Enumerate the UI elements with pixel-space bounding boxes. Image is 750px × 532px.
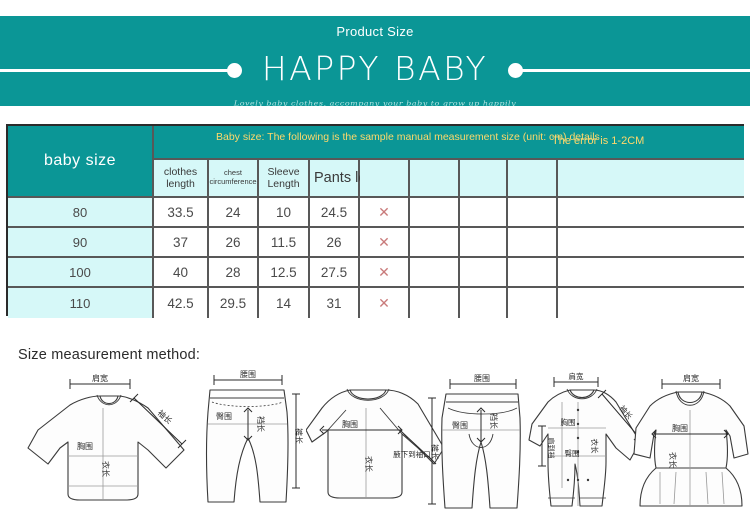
table-header-baby-size: baby size: [8, 126, 154, 198]
product-size-page: Product Size HAPPY BABY Lovely baby clot…: [0, 0, 750, 532]
size-table: baby size Baby size: The following is th…: [6, 124, 744, 316]
label-hip: 臀围: [565, 449, 580, 458]
table-row-size-cell: 100: [8, 258, 154, 288]
table-cell-col6: [410, 258, 460, 288]
table-col-8: [508, 160, 558, 198]
table-cell-mark: ✕: [360, 228, 410, 258]
table-cell-col7: [460, 228, 508, 258]
label-crotch: 裆长: [256, 416, 266, 432]
table-cell-col8: [508, 288, 558, 318]
label-hip: 臀围: [216, 412, 232, 421]
page-banner: Product Size HAPPY BABY Lovely baby clot…: [0, 16, 750, 106]
measurement-method-title: Size measurement method:: [18, 347, 200, 363]
table-header-note-band: Baby size: The following is the sample m…: [154, 126, 744, 160]
table-col-9: [558, 160, 744, 198]
table-col-7: [460, 160, 508, 198]
table-cell-chest-circumference: 29.5: [209, 288, 259, 318]
table-col-sleeve-length: Sleeve Length: [259, 160, 310, 198]
table-cell-col8: [508, 198, 558, 228]
shorts-pants-icon: 腰围 裆长 臀围 裤长: [422, 368, 540, 516]
label-shoulder-to-crotch: 肩到裆: [547, 438, 556, 459]
table-cell-mark: ✕: [360, 258, 410, 288]
table-cell-col9: [558, 198, 744, 228]
table-cell-col7: [460, 258, 508, 288]
label-shoulder-width: 肩宽: [683, 373, 699, 383]
table-cell-chest-circumference: 24: [209, 198, 259, 228]
label-length: 衣长: [590, 439, 600, 454]
table-cell-sleeve-length: 11.5: [259, 228, 310, 258]
romper-icon: 肩宽 袖长 胸围 衣长 肩到裆 臀围: [528, 368, 646, 516]
table-cell-pants-length: 27.5: [310, 258, 360, 288]
table-cell-chest-circumference: 26: [209, 228, 259, 258]
label-length: 衣长: [668, 452, 678, 468]
label-crotch: 裆长: [489, 413, 499, 429]
table-row-size-cell: 110: [8, 288, 154, 318]
label-chest: 胸围: [77, 441, 93, 451]
table-row-size-cell: 80: [8, 198, 154, 228]
table-cell-sleeve-length: 12.5: [259, 258, 310, 288]
table-cell-col8: [508, 228, 558, 258]
measurement-diagrams: 肩宽 袖长 胸围 衣长: [10, 368, 745, 518]
table-col-5: [360, 160, 410, 198]
label-waist: 腰围: [474, 374, 490, 383]
table-cell-pants-length: 24.5: [310, 198, 360, 228]
diagram-long-sleeve-top: 肩宽 袖长 胸围 衣长: [22, 368, 197, 518]
banner-title: HAPPY BABY: [0, 49, 750, 88]
long-pants-icon: 腰围 裤长 臀围 裆长: [188, 368, 318, 513]
label-chest: 胸围: [672, 423, 688, 433]
long-sleeve-top-icon: 肩宽 袖长 胸围 衣长: [22, 368, 197, 513]
banner-script-text: Lovely baby clothes, accompany your baby…: [0, 100, 750, 106]
table-cell-col8: [508, 258, 558, 288]
table-cell-col9: [558, 228, 744, 258]
table-cell-clothes-length: 37: [154, 228, 209, 258]
label-chest: 胸围: [561, 417, 576, 427]
table-col-6: [410, 160, 460, 198]
label-shoulder-width: 肩宽: [569, 371, 584, 381]
table-col-clothes-length: clothes length: [154, 160, 209, 198]
label-hip: 臀围: [452, 421, 468, 430]
diagram-romper: 肩宽 袖长 胸围 衣长 肩到裆 臀围: [528, 368, 646, 521]
label-chest: 胸围: [342, 419, 358, 429]
table-note-error: The error is 1-2CM: [552, 135, 644, 147]
label-length: 衣长: [101, 461, 111, 477]
table-cell-col9: [558, 258, 744, 288]
table-cell-mark: ✕: [360, 288, 410, 318]
diagram-dress: 肩宽 胸围 衣长: [630, 368, 750, 521]
label-length: 衣长: [364, 456, 374, 472]
dress-icon: 肩宽 胸围 衣长: [630, 368, 750, 516]
table-cell-sleeve-length: 10: [259, 198, 310, 228]
banner-subtitle: Product Size: [0, 24, 750, 39]
table-cell-col7: [460, 198, 508, 228]
table-cell-sleeve-length: 14: [259, 288, 310, 318]
table-cell-col6: [410, 228, 460, 258]
table-cell-col6: [410, 198, 460, 228]
diagram-shorts-pants: 腰围 裆长 臀围 裤长: [422, 368, 540, 521]
label-pants-length: 裤长: [430, 444, 440, 460]
table-cell-col6: [410, 288, 460, 318]
table-cell-pants-length: 26: [310, 228, 360, 258]
label-pants-length: 裤长: [294, 428, 304, 444]
label-shoulder-width: 肩宽: [92, 373, 108, 383]
table-cell-mark: ✕: [360, 198, 410, 228]
table-cell-clothes-length: 33.5: [154, 198, 209, 228]
diagram-long-pants: 腰围 裤长 臀围 裆长: [188, 368, 318, 518]
table-cell-pants-length: 31: [310, 288, 360, 318]
table-col-pants-length: Pants length/two-way gear: [310, 160, 360, 198]
table-cell-col7: [460, 288, 508, 318]
table-cell-clothes-length: 42.5: [154, 288, 209, 318]
table-cell-chest-circumference: 28: [209, 258, 259, 288]
table-cell-col9: [558, 288, 744, 318]
table-row-size-cell: 90: [8, 228, 154, 258]
label-waist: 腰围: [240, 370, 256, 379]
table-cell-clothes-length: 40: [154, 258, 209, 288]
table-col-chest-circumference: chest circumference: [209, 160, 259, 198]
